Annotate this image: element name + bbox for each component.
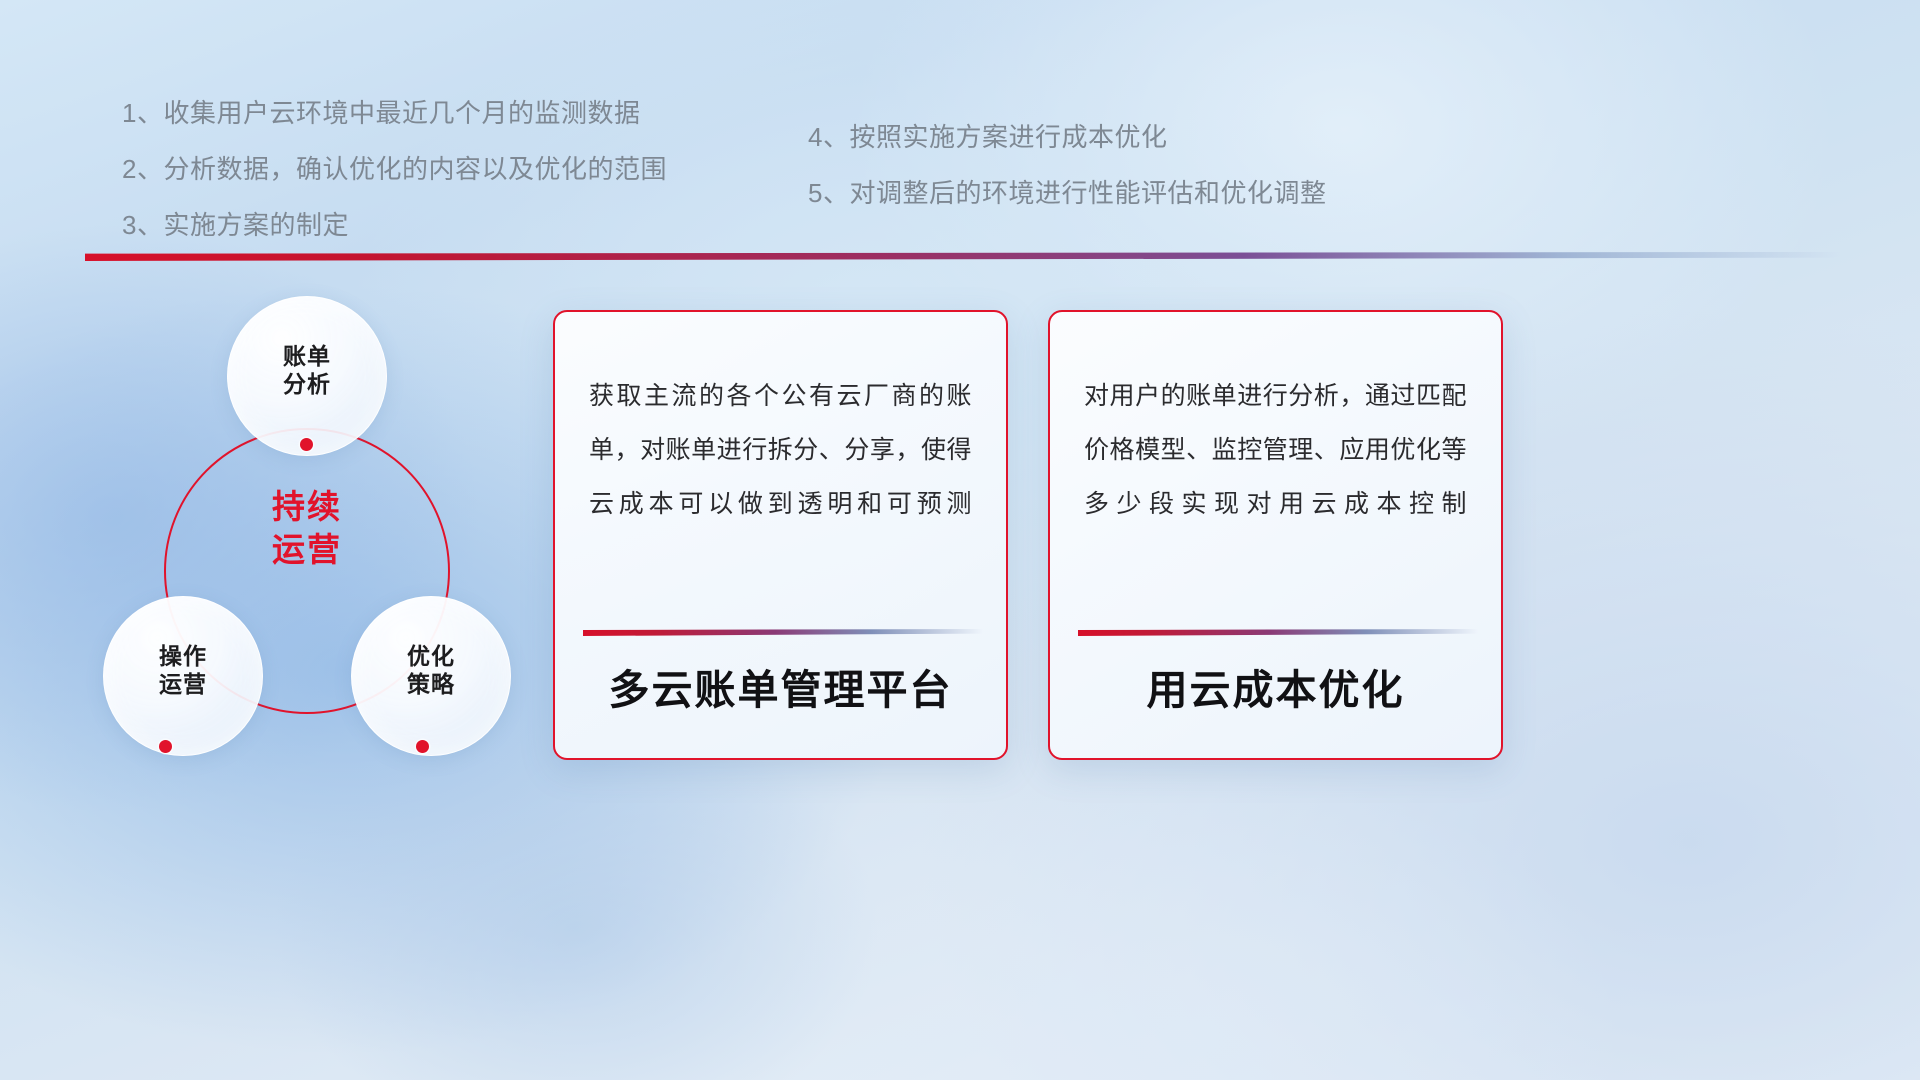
venn-node-label: 账单 分析 xyxy=(228,342,386,398)
card-body-text: 对用户的账单进行分析，通过匹配价格模型、监控管理、应用优化等多少段实现对用云成本… xyxy=(1084,370,1467,531)
venn-diagram: 账单 分析 操作 运营 优化 策略 持续 运营 xyxy=(75,288,555,768)
bullet-list-right: 4、按照实施方案进行成本优化 5、对调整后的环境进行性能评估和优化调整 xyxy=(808,124,1326,236)
venn-center-label: 持续 运营 xyxy=(164,486,450,572)
card-title: 多云账单管理平台 xyxy=(555,656,1006,716)
bullet-item-4: 4、按照实施方案进行成本优化 xyxy=(808,124,1326,150)
venn-node-billing-analysis[interactable]: 账单 分析 xyxy=(227,296,387,456)
venn-node-label-line1: 操作 xyxy=(159,643,207,669)
card-multi-cloud-billing-platform[interactable]: 获取主流的各个公有云厂商的账单，对账单进行拆分、分享，使得云成本可以做到透明和可… xyxy=(553,310,1008,760)
bullet-item-2: 2、分析数据，确认优化的内容以及优化的范围 xyxy=(122,156,667,182)
bullet-item-1: 1、收集用户云环境中最近几个月的监测数据 xyxy=(122,100,667,126)
venn-connector-dot-left xyxy=(159,740,172,753)
venn-node-label-line2: 分析 xyxy=(283,371,331,397)
slide-canvas: 1、收集用户云环境中最近几个月的监测数据 2、分析数据，确认优化的内容以及优化的… xyxy=(0,0,1920,1080)
venn-center-line1: 持续 xyxy=(272,488,342,525)
venn-node-operations[interactable]: 操作 运营 xyxy=(103,596,263,756)
bullet-list-left: 1、收集用户云环境中最近几个月的监测数据 2、分析数据，确认优化的内容以及优化的… xyxy=(122,100,667,268)
card-divider-rule xyxy=(1078,629,1478,636)
card-divider-rule xyxy=(583,629,983,636)
venn-connector-dot-top xyxy=(300,438,313,451)
card-cloud-cost-optimization[interactable]: 对用户的账单进行分析，通过匹配价格模型、监控管理、应用优化等多少段实现对用云成本… xyxy=(1048,310,1503,760)
venn-connector-dot-right xyxy=(416,740,429,753)
venn-center-line2: 运营 xyxy=(272,531,342,568)
bullet-item-5: 5、对调整后的环境进行性能评估和优化调整 xyxy=(808,180,1326,206)
venn-node-label: 操作 运营 xyxy=(104,642,262,698)
venn-node-label-line2: 策略 xyxy=(407,671,455,697)
venn-node-label-line1: 优化 xyxy=(407,643,455,669)
venn-node-label-line2: 运营 xyxy=(159,671,207,697)
venn-node-optimization-strategy[interactable]: 优化 策略 xyxy=(351,596,511,756)
card-title: 用云成本优化 xyxy=(1050,656,1501,716)
venn-node-label-line1: 账单 xyxy=(283,343,331,369)
card-body-text: 获取主流的各个公有云厂商的账单，对账单进行拆分、分享，使得云成本可以做到透明和可… xyxy=(589,370,972,531)
bullet-item-3: 3、实施方案的制定 xyxy=(122,212,667,238)
venn-node-label: 优化 策略 xyxy=(352,642,510,698)
